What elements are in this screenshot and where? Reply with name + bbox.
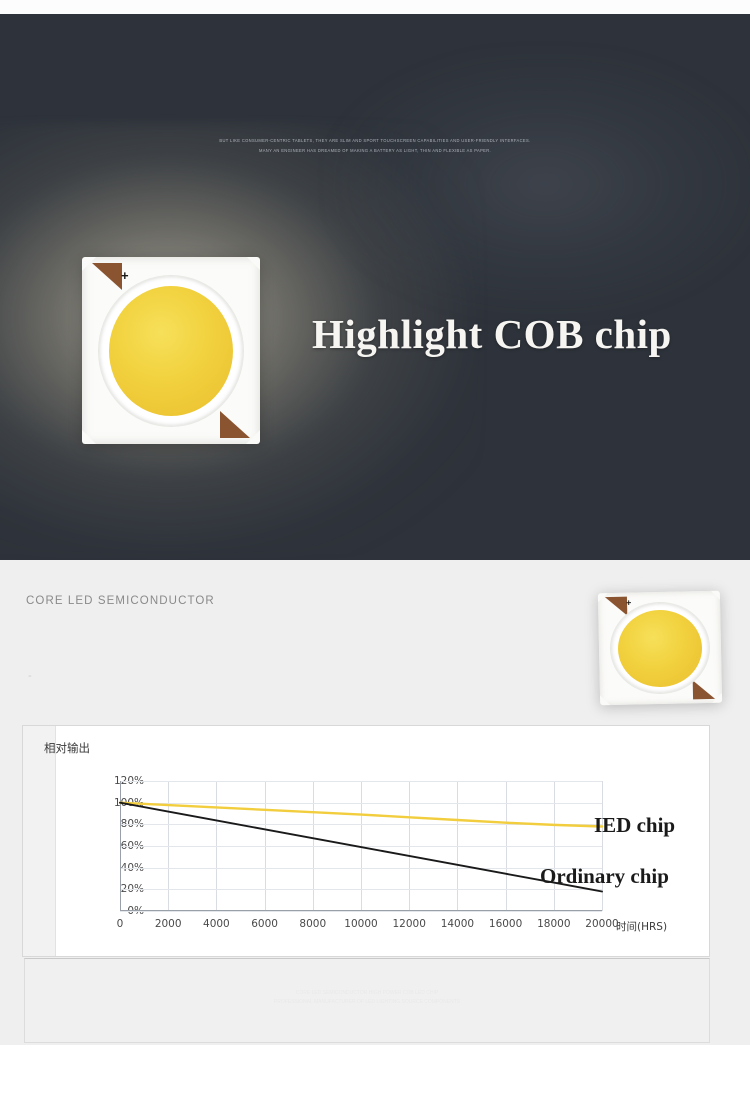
top-white-strip bbox=[0, 0, 750, 14]
bottom-watermark-block: CORE LED SEMICONDUCTOR HIGH POWER COB LE… bbox=[24, 958, 710, 1043]
chip-pad-bottom-right bbox=[693, 680, 715, 699]
chip-pad-top-left bbox=[92, 263, 122, 290]
cob-chip-image-thumbnail: + bbox=[598, 591, 722, 706]
watermark-text: CORE LED SEMICONDUCTOR HIGH POWER COB LE… bbox=[25, 989, 709, 1007]
chart-series-canvas bbox=[120, 781, 602, 911]
chart-y-axis-title: 相对输出 bbox=[44, 740, 90, 756]
watermark-line-1: CORE LED SEMICONDUCTOR HIGH POWER COB LE… bbox=[25, 989, 709, 998]
hero-caption: BUT LIKE CONSUMER-CENTRIC TABLETS, THEY … bbox=[0, 136, 750, 156]
chip-pad-top-left bbox=[605, 597, 627, 616]
section-label-core-led: CORE LED SEMICONDUCTOR bbox=[26, 595, 215, 607]
chip-polarity-plus-icon: + bbox=[626, 599, 631, 608]
bottom-white-strip bbox=[0, 1045, 750, 1100]
gridline-horizontal bbox=[120, 911, 602, 912]
hero-glow-secondary bbox=[330, 54, 750, 314]
chip-pad-bottom-right bbox=[220, 411, 250, 438]
chart-legend-ied-chip: IED chip bbox=[594, 813, 675, 838]
chart-line-series bbox=[120, 781, 602, 911]
hero-banner: BUT LIKE CONSUMER-CENTRIC TABLETS, THEY … bbox=[0, 14, 750, 560]
page-title: Highlight COB chip bbox=[312, 310, 672, 358]
series-line-ied-chip bbox=[120, 803, 602, 827]
chart-x-tick: 20000 bbox=[572, 918, 632, 930]
hero-caption-line-2: MANY AN ENGINEER HAS DREAMED OF MAKING A… bbox=[0, 146, 750, 156]
watermark-line-2: PROFESSIONAL MANUFACTURER OF LED LIGHTIN… bbox=[25, 998, 709, 1007]
series-line-ordinary-chip bbox=[120, 803, 602, 892]
hero-caption-line-1: BUT LIKE CONSUMER-CENTRIC TABLETS, THEY … bbox=[0, 136, 750, 146]
decorative-dash: - bbox=[28, 670, 33, 682]
chip-polarity-plus-icon: + bbox=[121, 269, 129, 282]
chip-phosphor-circle bbox=[109, 286, 233, 416]
chart-left-gutter bbox=[23, 726, 56, 956]
chart-legend-ordinary-chip: Ordinary chip bbox=[540, 864, 669, 889]
cob-chip-image-large: + bbox=[82, 257, 260, 444]
